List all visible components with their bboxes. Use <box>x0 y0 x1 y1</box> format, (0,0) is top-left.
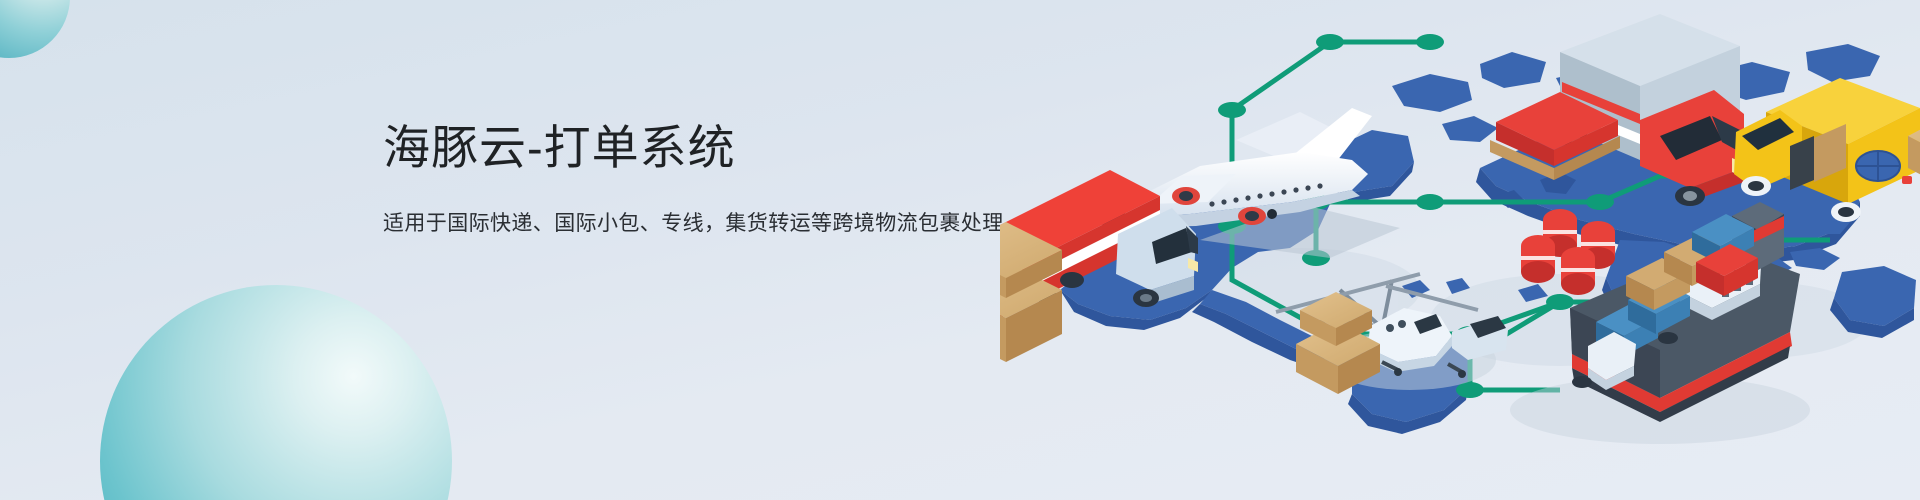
hero-banner: 海豚云-打单系统 适用于国际快递、国际小包、专线，集货转运等跨境物流包裹处理 <box>0 0 1920 500</box>
hero-text-block: 海豚云-打单系统 适用于国际快递、国际小包、专线，集货转运等跨境物流包裹处理 <box>383 118 1003 240</box>
decorative-circle-bottom-left <box>100 285 452 500</box>
page-title: 海豚云-打单系统 <box>383 118 1003 178</box>
decorative-circle-top-left <box>0 0 70 58</box>
isometric-global-logistics-map <box>1000 0 1920 500</box>
page-subtitle: 适用于国际快递、国际小包、专线，集货转运等跨境物流包裹处理 <box>383 208 1003 240</box>
